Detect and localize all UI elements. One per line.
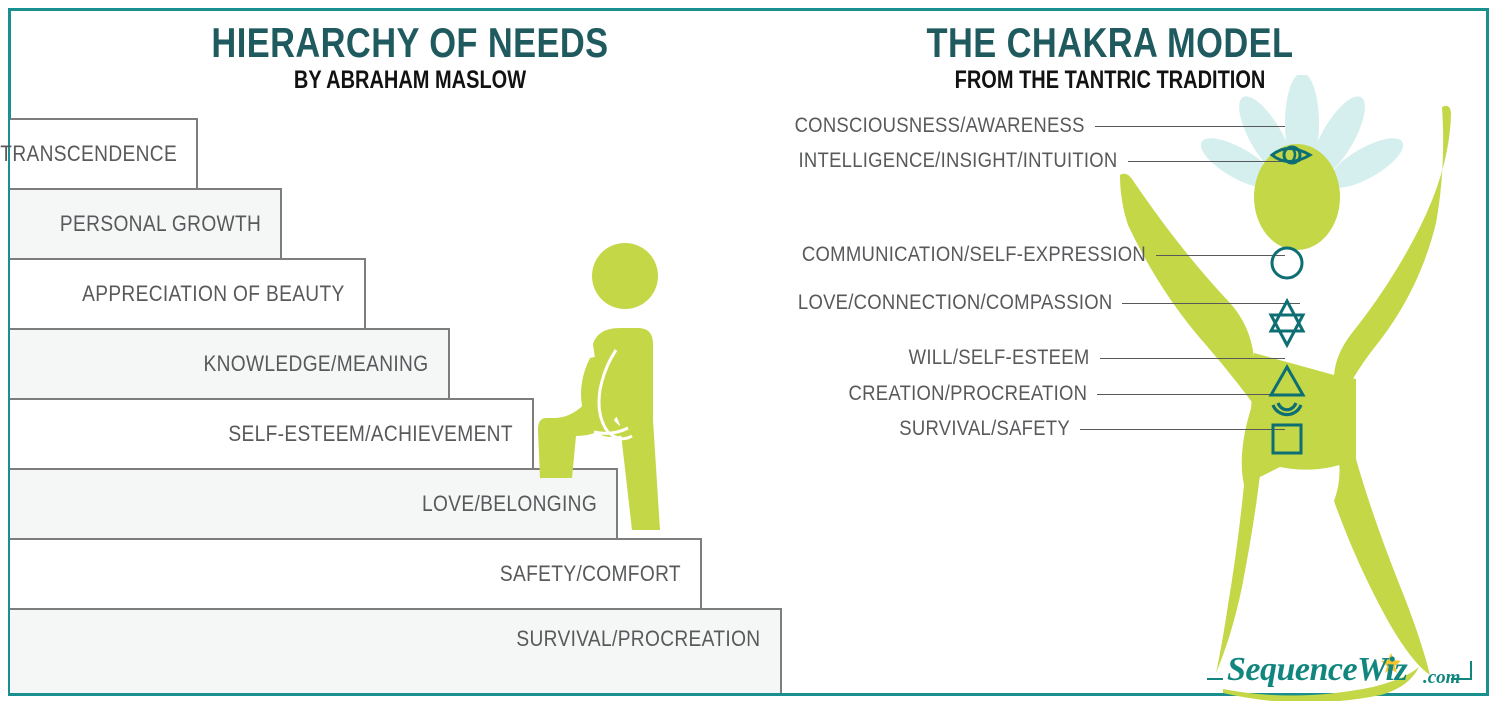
chakra-label: WILL/SELF-ESTEEM [909,346,1090,370]
step-label: APPRECIATION OF BEAUTY [82,281,364,307]
chakra-row-intelligence[interactable]: INTELLIGENCE/INSIGHT/INTUITION [755,150,1300,172]
step-personal-growth[interactable]: PERSONAL GROWTH [10,188,282,258]
chakra-row-communication[interactable]: COMMUNICATION/SELF-EXPRESSION [755,244,1285,266]
chakra-row-creation[interactable]: CREATION/PROCREATION [755,383,1285,405]
chakra-row-love[interactable]: LOVE/CONNECTION/COMPASSION [755,292,1300,314]
chakra-row-will[interactable]: WILL/SELF-ESTEEM [755,347,1285,369]
chakra-label: INTELLIGENCE/INSIGHT/INTUITION [799,149,1118,173]
logo-wordmark: SequenceWiz [1227,651,1407,689]
step-survival-procreation[interactable]: SURVIVAL/PROCREATION [10,608,782,693]
chakra-label: CREATION/PROCREATION [848,382,1087,406]
chakra-label: CONSCIOUSNESS/AWARENESS [795,114,1085,138]
chakra-row-survival[interactable]: SURVIVAL/SAFETY [755,418,1285,440]
walker-head-icon [592,243,658,309]
step-appreciation-of-beauty[interactable]: APPRECIATION OF BEAUTY [10,258,366,328]
chakra-left-arm-icon [1120,174,1254,405]
chakra-label: COMMUNICATION/SELF-EXPRESSION [802,243,1146,267]
chakra-row-consciousness[interactable]: CONSCIOUSNESS/AWARENESS [755,115,1285,137]
crescent-icon[interactable] [1273,403,1301,415]
infographic-canvas: HIERARCHY OF NEEDS BY ABRAHAM MASLOW TRA… [0,0,1497,705]
third-eye-icon[interactable] [1272,147,1310,163]
step-label: SAFETY/COMFORT [500,561,700,587]
step-knowledge-meaning[interactable]: KNOWLEDGE/MEANING [10,328,450,398]
chakra-label: SURVIVAL/SAFETY [899,417,1070,441]
logo-suffix: .com [1423,667,1460,689]
chakra-diagram: CONSCIOUSNESS/AWARENESS INTELLIGENCE/INS… [740,0,1497,705]
chakra-symbols-group [1240,95,1360,455]
hexagram-icon[interactable] [1271,301,1303,345]
chakra-label: LOVE/CONNECTION/COMPASSION [798,291,1113,315]
step-label: KNOWLEDGE/MEANING [204,351,448,377]
step-transcendence[interactable]: TRANSCENDENCE [10,118,198,188]
sequencewiz-logo[interactable]: SequenceWiz .com [1205,645,1485,701]
step-label: SELF-ESTEEM/ACHIEVEMENT [228,421,532,447]
triangle-icon[interactable] [1271,367,1303,395]
square-icon[interactable] [1273,425,1301,453]
step-label: TRANSCENDENCE [0,141,196,167]
climbing-person-figure [520,240,740,560]
step-label: PERSONAL GROWTH [60,211,280,237]
circle-icon[interactable] [1272,248,1302,278]
step-self-esteem-achievement[interactable]: SELF-ESTEEM/ACHIEVEMENT [10,398,534,468]
